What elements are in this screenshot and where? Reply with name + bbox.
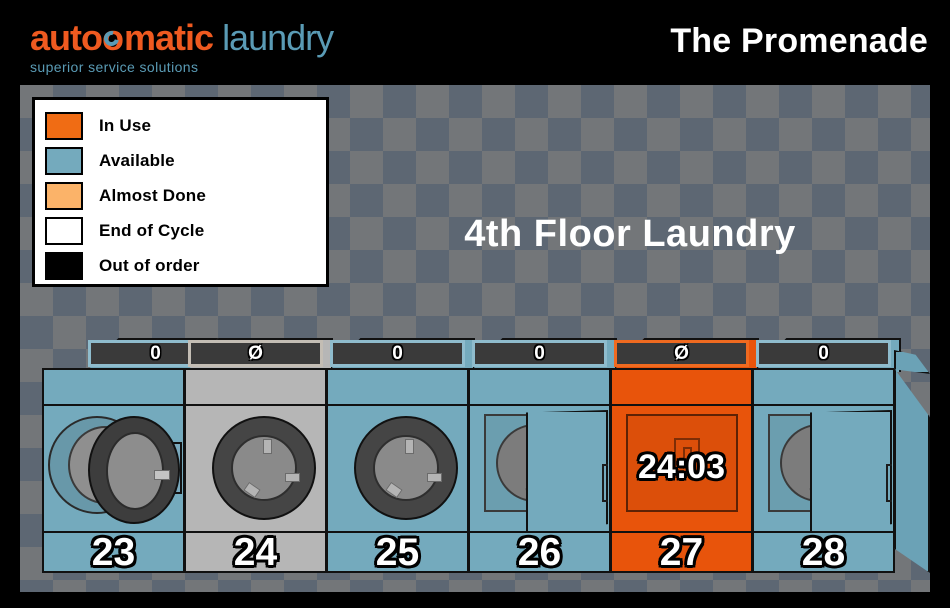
machine-24[interactable]: 24	[184, 368, 327, 573]
legend-label-available: Available	[99, 151, 175, 171]
legend-label-end-of-cycle: End of Cycle	[99, 221, 204, 241]
machine-number-26: 26	[518, 533, 561, 572]
display-glyph-24: Ø	[248, 344, 263, 363]
legend-item: Available	[45, 143, 326, 178]
machine-body-top-27	[612, 370, 751, 406]
legend-swatch-in-use	[45, 112, 83, 140]
machine-display-25: 0	[330, 340, 465, 367]
machine-display-28: 0	[756, 340, 891, 367]
machine-body-top-23	[44, 370, 183, 406]
display-glyph-26: 0	[534, 344, 545, 363]
display-glyph-27: Ø	[674, 344, 689, 363]
machine-number-28: 28	[802, 533, 845, 572]
machine-display-26: 0	[472, 340, 607, 367]
dryer-handle-icon-26	[602, 464, 609, 502]
machine-body-top-28	[754, 370, 893, 406]
machine-console-24: Ø	[186, 310, 333, 372]
legend-item: Out of order	[45, 248, 326, 283]
legend-label-in-use: In Use	[99, 116, 151, 136]
machine-number-zone-28: 28	[754, 533, 893, 571]
machine-door-27: 24:03	[612, 406, 751, 533]
dryer-handle-icon-28	[886, 464, 893, 502]
dryer-open-door-28	[754, 406, 893, 531]
machine-28[interactable]: 28	[752, 368, 895, 573]
machine-25[interactable]: 25	[326, 368, 469, 573]
machine-body-top-26	[470, 370, 609, 406]
logo-text-matic: matic	[124, 17, 213, 58]
machine-number-zone-25: 25	[328, 533, 467, 571]
legend-swatch-almost-done	[45, 182, 83, 210]
machine-number-27: 27	[660, 533, 703, 572]
machine-door-24	[186, 406, 325, 533]
laundry-status-screen: autoomatic laundry superior service solu…	[0, 0, 950, 608]
machine-door-26	[470, 406, 609, 533]
washer-door-24	[212, 416, 316, 520]
machine-23[interactable]: 23	[42, 368, 185, 573]
machine-number-24: 24	[234, 533, 277, 572]
machine-number-zone-23: 23	[44, 533, 183, 571]
machine-display-27: Ø	[614, 340, 749, 367]
washer-door-25	[354, 416, 458, 520]
logo-text-auto: auto	[30, 17, 102, 58]
legend-swatch-end-of-cycle	[45, 217, 83, 245]
machine-console-27: Ø	[612, 310, 759, 372]
room-title: 4th Floor Laundry	[350, 213, 910, 256]
logo-tagline: superior service solutions	[30, 58, 333, 76]
automatic-laundry-logo: autoomatic laundry superior service solu…	[30, 20, 333, 76]
machine-bank: 0 Ø 0 0	[42, 310, 910, 573]
logo-swirl-o-icon: o	[102, 20, 124, 56]
logo-wordmark: autoomatic laundry	[30, 20, 333, 56]
legend-item: In Use	[45, 108, 326, 143]
status-legend: In Use Available Almost Done End of Cycl…	[32, 97, 329, 287]
machine-console-28: 0	[754, 310, 901, 372]
washer-open-door-23	[46, 412, 182, 528]
machine-body-top-25	[328, 370, 467, 406]
machine-number-zone-27: 27	[612, 533, 751, 571]
machine-console-25: 0	[328, 310, 475, 372]
machine-timer-27: 24:03	[612, 450, 751, 484]
machine-door-23	[44, 406, 183, 533]
display-glyph-23: 0	[150, 344, 161, 363]
machine-27[interactable]: 24:03 27	[610, 368, 753, 573]
machine-number-23: 23	[92, 533, 135, 572]
legend-label-almost-done: Almost Done	[99, 186, 206, 206]
display-glyph-28: 0	[818, 344, 829, 363]
laundry-room-panel: In Use Available Almost Done End of Cycl…	[20, 85, 930, 592]
machine-number-zone-24: 24	[186, 533, 325, 571]
venue-name: The Promenade	[670, 22, 928, 61]
bank-side-panel	[894, 368, 930, 573]
legend-swatch-available	[45, 147, 83, 175]
header-bar: autoomatic laundry superior service solu…	[0, 0, 950, 85]
machine-number-zone-26: 26	[470, 533, 609, 571]
machine-number-25: 25	[376, 533, 419, 572]
machine-console-26: 0	[470, 310, 617, 372]
legend-item: Almost Done	[45, 178, 326, 213]
dryer-open-door-26	[470, 406, 609, 531]
machine-door-28	[754, 406, 893, 533]
machine-26[interactable]: 26	[468, 368, 611, 573]
legend-item: End of Cycle	[45, 213, 326, 248]
display-glyph-25: 0	[392, 344, 403, 363]
machine-door-25	[328, 406, 467, 533]
machine-body-top-24	[186, 370, 325, 406]
legend-swatch-out-of-order	[45, 252, 83, 280]
logo-text-laundry: laundry	[222, 17, 333, 58]
machine-display-24: Ø	[188, 340, 323, 367]
legend-label-out-of-order: Out of order	[99, 256, 200, 276]
